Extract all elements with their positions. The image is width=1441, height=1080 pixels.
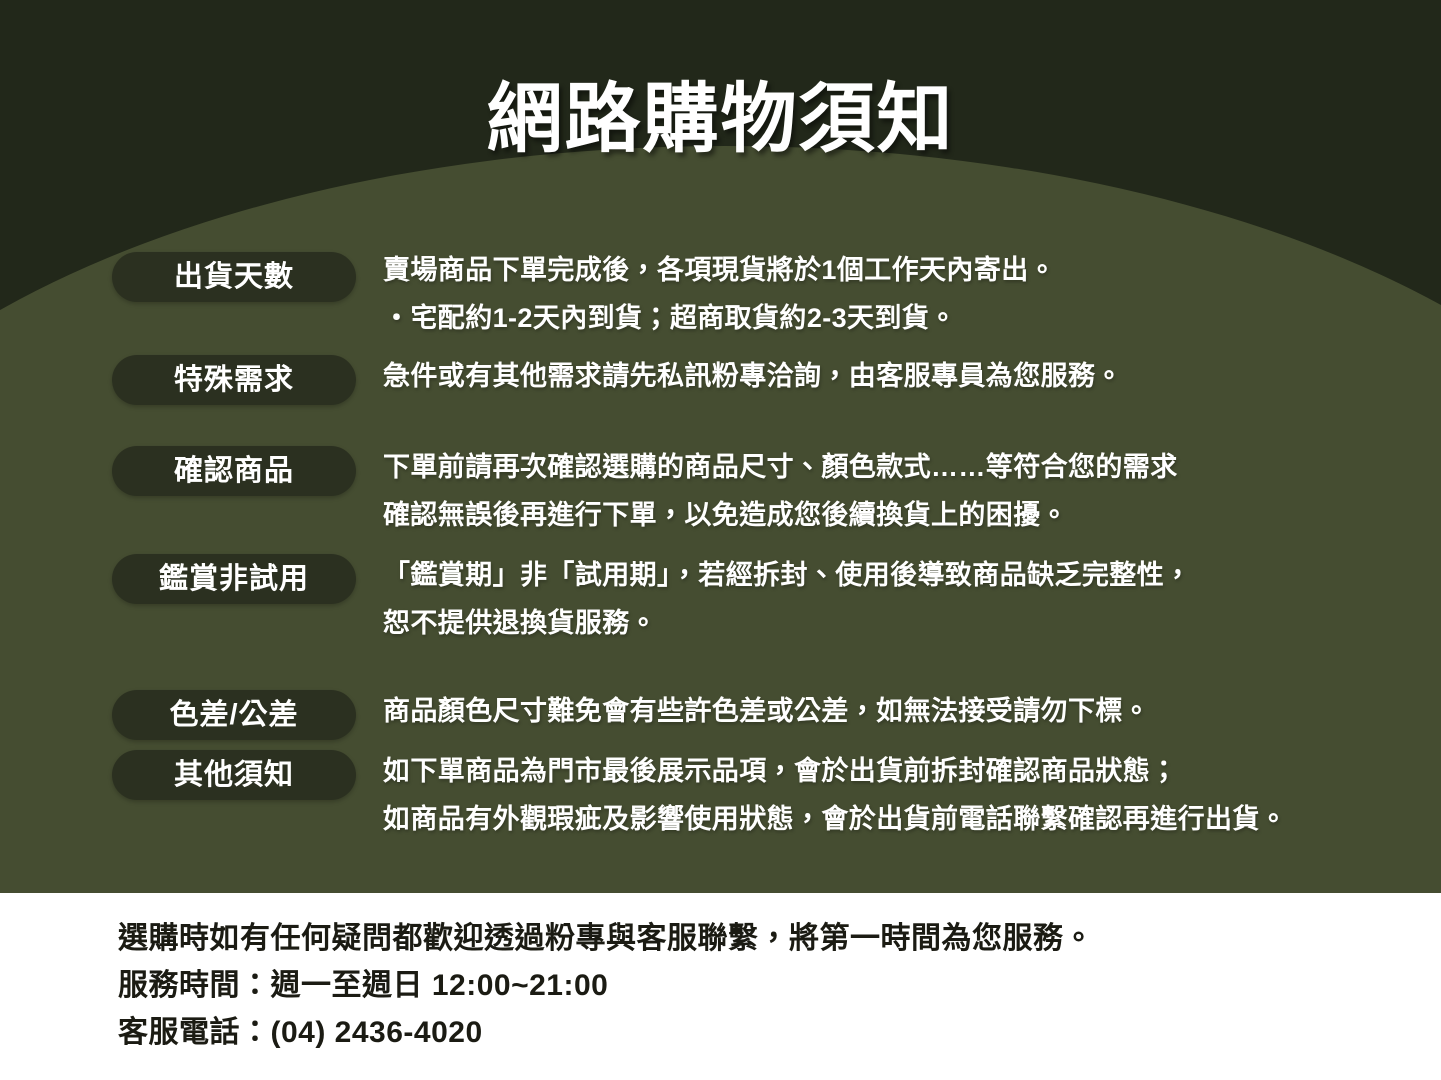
notice-label-badge: 鑑賞非試用 xyxy=(112,554,356,604)
notice-label-badge: 出貨天數 xyxy=(112,252,356,302)
notice-body-line: 商品顏色尺寸難免會有些許色差或公差，如無法接受請勿下標。 xyxy=(383,687,1413,735)
notice-body-line: 賣場商品下單完成後，各項現貨將於1個工作天內寄出。 xyxy=(383,246,1413,294)
notice-label-badge: 色差/公差 xyxy=(112,690,356,740)
notice-body-line: 如商品有外觀瑕疵及影響使用狀態，會於出貨前電話聯繫確認再進行出貨。 xyxy=(383,795,1413,843)
notice-label-badge: 確認商品 xyxy=(112,446,356,496)
footer-support-message: 選購時如有任何疑問都歡迎透過粉專與客服聯繫，將第一時間為您服務。 xyxy=(118,915,1418,962)
notice-body: 「鑑賞期」非「試用期」，若經拆封、使用後導致商品缺乏完整性， 恕不提供退換貨服務… xyxy=(383,551,1413,647)
notice-body-line: 確認無誤後再進行下單，以免造成您後續換貨上的困擾。 xyxy=(383,491,1413,539)
footer-phone-number: 客服電話：(04) 2436-4020 xyxy=(118,1009,1418,1056)
footer-service-hours: 服務時間：週一至週日 12:00~21:00 xyxy=(118,962,1418,1009)
notice-body-line: 「鑑賞期」非「試用期」，若經拆封、使用後導致商品缺乏完整性， xyxy=(383,551,1413,599)
notice-body: 急件或有其他需求請先私訊粉專洽詢，由客服專員為您服務。 xyxy=(383,352,1413,400)
notice-body: 如下單商品為門市最後展示品項，會於出貨前拆封確認商品狀態； 如商品有外觀瑕疵及影… xyxy=(383,747,1413,843)
notice-body-line: 恕不提供退換貨服務。 xyxy=(383,599,1413,647)
contact-footer: 選購時如有任何疑問都歡迎透過粉專與客服聯繫，將第一時間為您服務。 服務時間：週一… xyxy=(0,893,1441,1080)
notice-body: 賣場商品下單完成後，各項現貨將於1個工作天內寄出。 ・宅配約1-2天內到貨；超商… xyxy=(383,246,1413,342)
notice-body-line: 急件或有其他需求請先私訊粉專洽詢，由客服專員為您服務。 xyxy=(383,352,1413,400)
notice-body: 下單前請再次確認選購的商品尺寸、顏色款式……等符合您的需求 確認無誤後再進行下單… xyxy=(383,443,1413,539)
contact-footer-content: 選購時如有任何疑問都歡迎透過粉專與客服聯繫，將第一時間為您服務。 服務時間：週一… xyxy=(118,915,1418,1056)
notice-page: 網路購物須知 出貨天數 賣場商品下單完成後，各項現貨將於1個工作天內寄出。 ・宅… xyxy=(0,0,1441,1080)
notice-body-line: 下單前請再次確認選購的商品尺寸、顏色款式……等符合您的需求 xyxy=(383,443,1413,491)
notice-body-line: ・宅配約1-2天內到貨；超商取貨約2-3天到貨。 xyxy=(383,294,1413,342)
notice-label-badge: 特殊需求 xyxy=(112,355,356,405)
notice-body-line: 如下單商品為門市最後展示品項，會於出貨前拆封確認商品狀態； xyxy=(383,747,1413,795)
notice-body: 商品顏色尺寸難免會有些許色差或公差，如無法接受請勿下標。 xyxy=(383,687,1413,735)
notice-rows: 出貨天數 賣場商品下單完成後，各項現貨將於1個工作天內寄出。 ・宅配約1-2天內… xyxy=(0,0,1441,893)
notice-label-badge: 其他須知 xyxy=(112,750,356,800)
